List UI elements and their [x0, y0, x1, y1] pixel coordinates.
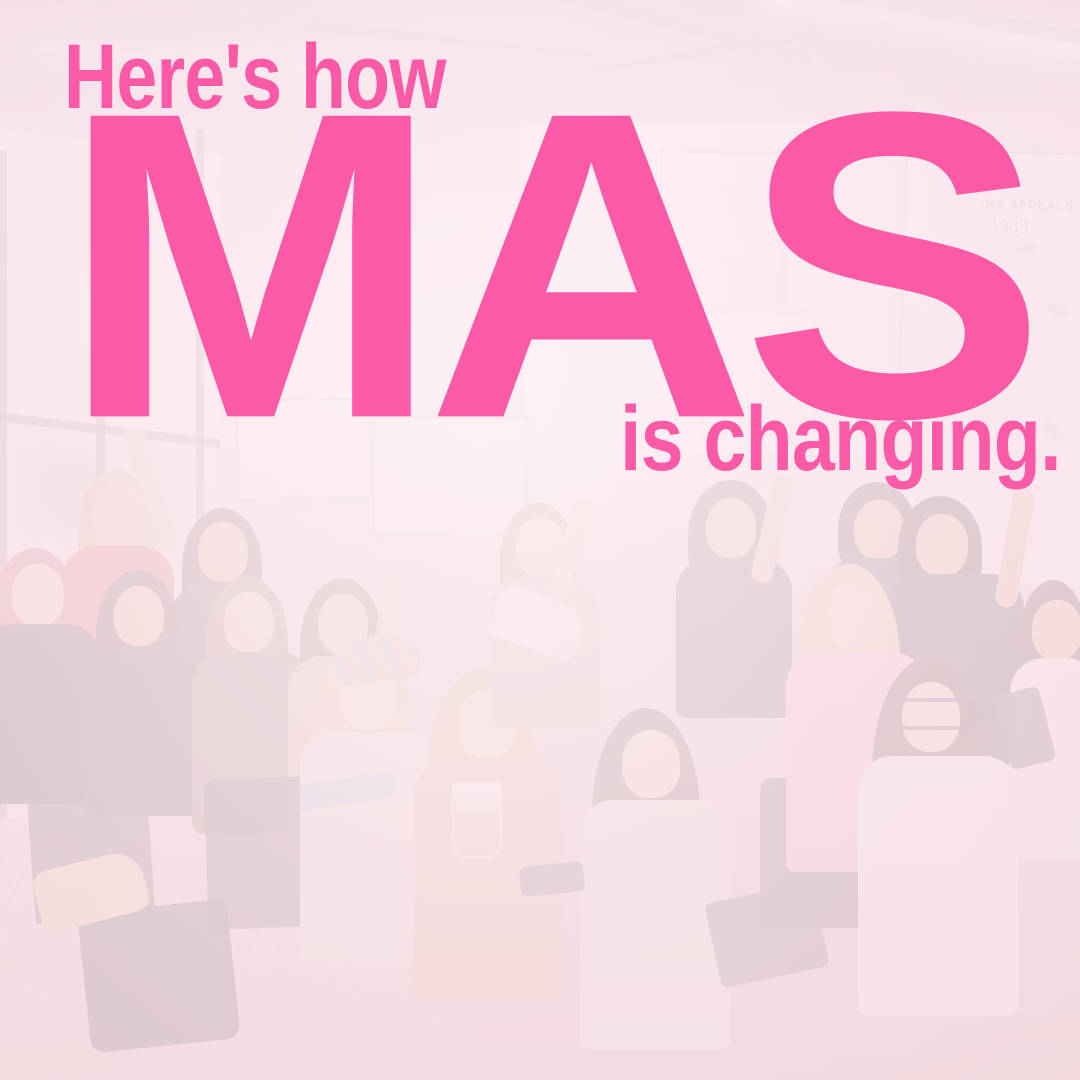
headline-acronym: MAS [60, 96, 1032, 437]
headline-subline: is changing. [620, 398, 1061, 481]
headline-group: Here's how MAS is changing. [0, 0, 1080, 1080]
social-post-canvas: IMA APPEALS 1983 [0, 0, 1080, 1080]
